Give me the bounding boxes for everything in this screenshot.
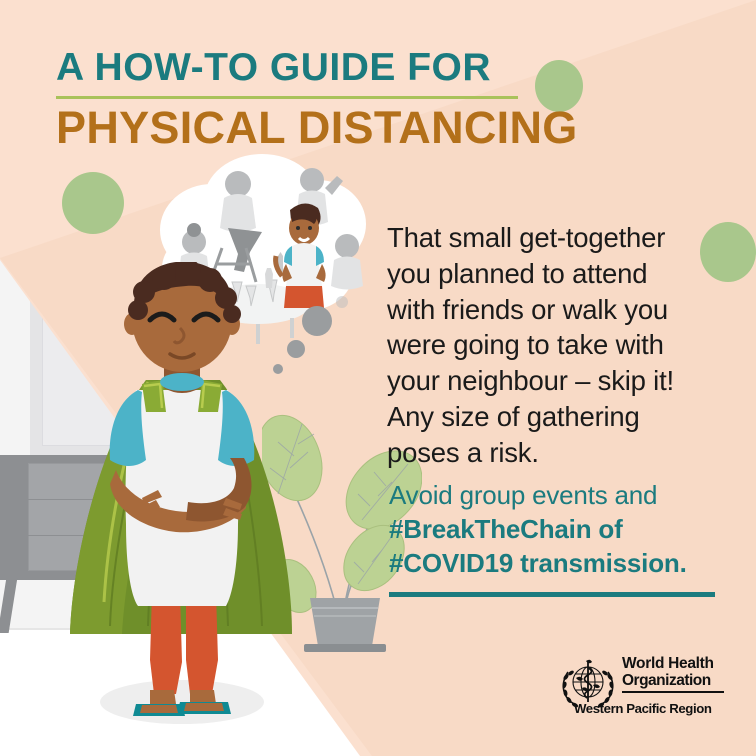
who-line-2: Organization [622, 673, 726, 690]
body-line: your neighbour – skip it! [387, 363, 717, 399]
title-line-2: PHYSICAL DISTANCING [56, 105, 616, 151]
who-line-1: World Health [622, 656, 726, 673]
who-region-label: Western Pacific Region [574, 702, 754, 717]
cta-line-2-hashtag-breakthechain: #BreakTheChain of [389, 512, 719, 546]
body-line: Any size of gathering [387, 399, 717, 435]
cta-line-3-hashtag-covid19: #COVID19 transmission. [389, 546, 719, 580]
body-line: That small get-together [387, 220, 717, 256]
body-line: you planned to attend [387, 256, 717, 292]
body-line: with friends or walk you [387, 292, 717, 328]
title-divider [56, 96, 518, 99]
cta-divider [389, 592, 715, 597]
poster-title: A HOW-TO GUIDE FOR PHYSICAL DISTANCING [56, 48, 616, 151]
character-boy-with-cape [30, 262, 330, 732]
title-line-1: A HOW-TO GUIDE FOR [56, 48, 616, 87]
body-line: were going to take with [387, 327, 717, 363]
body-copy: That small get-together you planned to a… [387, 220, 717, 470]
cta-line-1: Avoid group events and [389, 478, 719, 512]
who-logo: World Health Organization Western Pacifi… [560, 656, 725, 724]
who-physical-distancing-poster: A HOW-TO GUIDE FOR PHYSICAL DISTANCING T… [0, 0, 756, 756]
decorative-circle [62, 172, 124, 234]
body-line: poses a risk. [387, 435, 717, 471]
who-wordmark: World Health Organization Western Pacifi… [622, 656, 726, 695]
who-divider [622, 691, 724, 693]
call-to-action: Avoid group events and #BreakTheChain of… [389, 478, 719, 580]
